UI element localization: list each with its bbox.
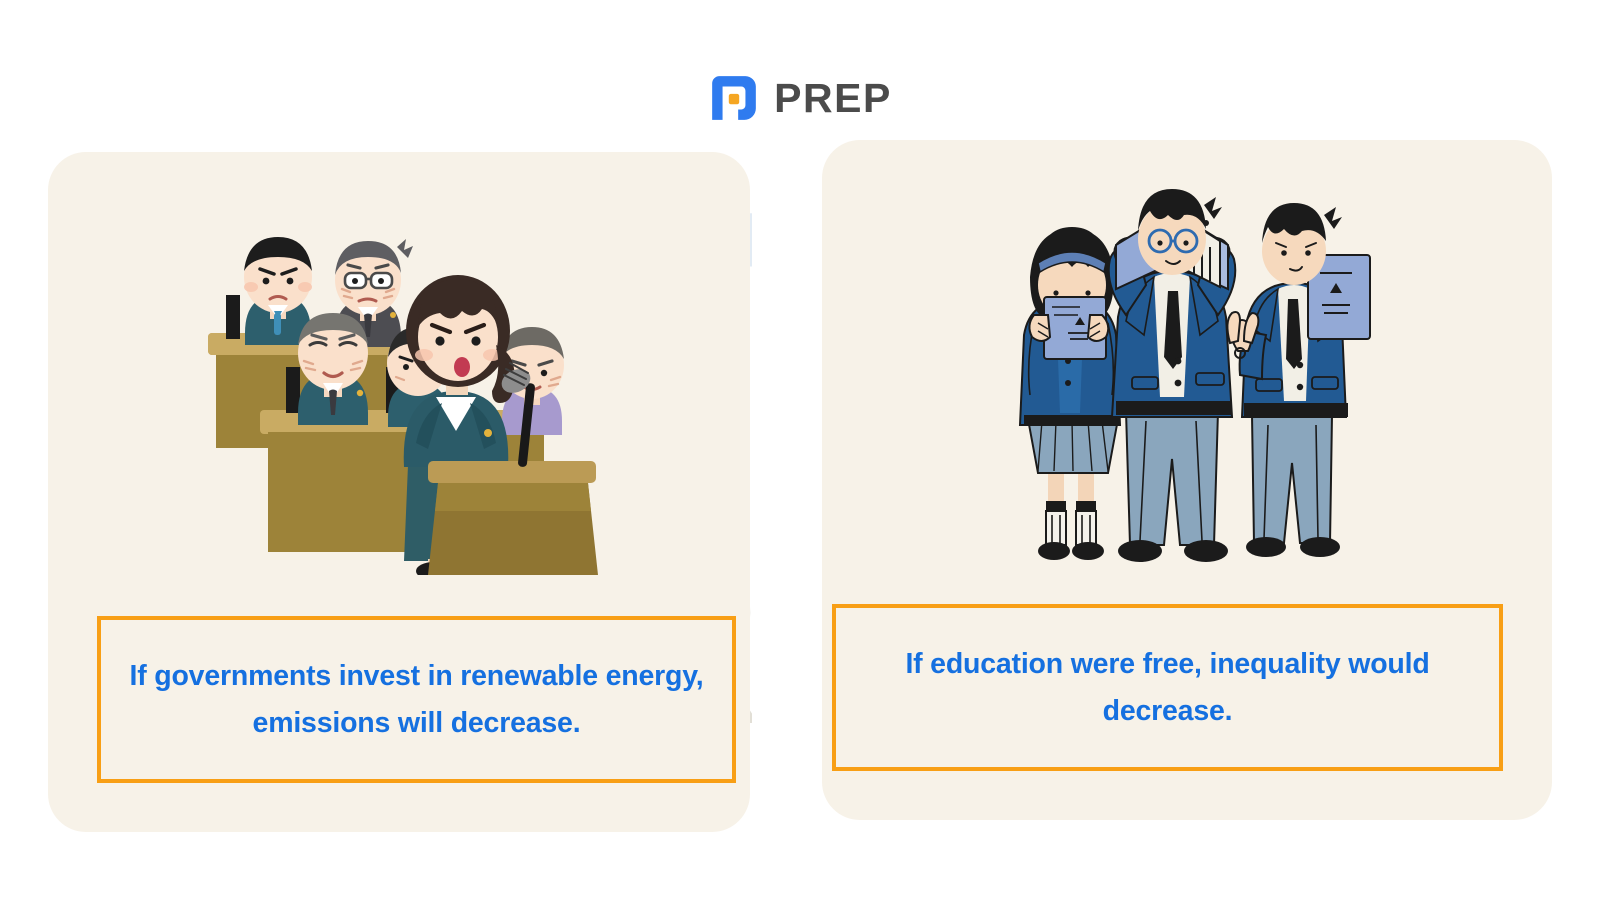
prep-square-p-icon [708,72,760,124]
panel-gutter [752,140,822,840]
caption-box-left: If governments invest in renewable energ… [97,616,736,783]
caption-box-right: If education were free, inequality would… [832,604,1503,771]
caption-text-left: If governments invest in renewable energ… [123,653,710,745]
prep-logo: PREP [0,68,1600,128]
parliament-speaker-illustration [190,185,610,575]
prep-wordmark: PREP [774,78,892,119]
students-with-books-illustration [990,165,1390,575]
poster-canvas: PREP [0,0,1600,900]
caption-text-right: If education were free, inequality would… [858,641,1477,733]
